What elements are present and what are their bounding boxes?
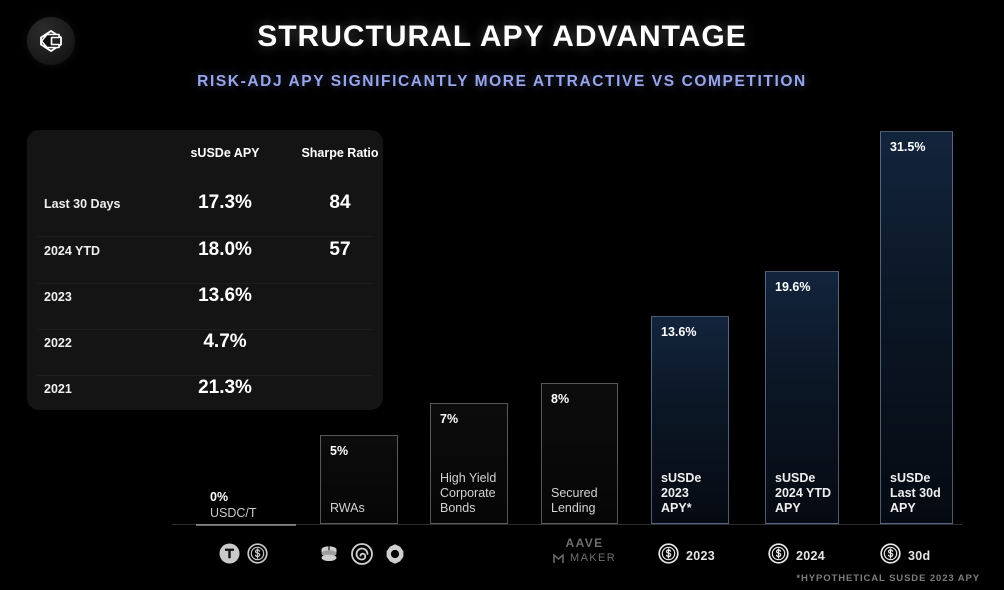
- bar-value-label: 31.5%: [890, 140, 925, 154]
- bar-susde-2023-apy: 13.6% sUSDe 2023 APY*: [651, 316, 729, 524]
- usde-coin-icon: [658, 543, 679, 569]
- bar-caption: sUSDe Last 30d APY: [890, 471, 941, 516]
- bar-value-label: 8%: [551, 392, 569, 406]
- bar-caption: sUSDe 2023 APY*: [661, 471, 701, 516]
- legend-aave-maker: AAVE MAKER: [553, 536, 616, 566]
- bar-value-label: 0%: [210, 489, 257, 505]
- legend-item-2023: 2023: [658, 543, 715, 569]
- legend-label: 2023: [686, 549, 715, 563]
- legend-label: 30d: [908, 549, 930, 563]
- stacked-coins-icon: [318, 544, 340, 569]
- bar-susde-2024-ytd-apy: 19.6% sUSDe 2024 YTD APY: [765, 271, 839, 524]
- bar-usdc-t: 0% USDC/T: [210, 489, 257, 521]
- bar-value-label: 13.6%: [661, 325, 696, 339]
- legend-rwa-logos: [318, 543, 406, 570]
- slide-root: STRUCTURAL APY ADVANTAGE RISK-ADJ APY SI…: [0, 0, 1004, 590]
- legend-item-2024: 2024: [768, 543, 825, 569]
- usdc-coin-icon: [247, 543, 268, 569]
- footnote: *HYPOTHETICAL SUSDE 2023 APY: [796, 573, 980, 584]
- bar-caption: sUSDe 2024 YTD APY: [775, 471, 831, 516]
- legend-label: 2024: [796, 549, 825, 563]
- aave-label: AAVE: [553, 536, 616, 551]
- bar-rwas: 5% RWAs: [320, 435, 398, 524]
- bar-high-yield-corporate-bonds: 7% High Yield Corporate Bonds: [430, 403, 508, 524]
- maker-m-icon: [553, 553, 566, 564]
- bar-caption: USDC/T: [210, 505, 257, 521]
- bar-caption: High Yield Corporate Bonds: [440, 471, 496, 516]
- chart-baseline-highlight: [196, 524, 296, 526]
- usde-coin-icon: [768, 543, 789, 569]
- legend-usdc-t-logos: [219, 543, 268, 569]
- gear-hex-icon: [384, 543, 406, 570]
- apy-comparison-bar-chart: 0% USDC/T 5% RWAs 7% High Yield Corporat…: [0, 0, 1004, 590]
- bar-value-label: 19.6%: [775, 280, 810, 294]
- maker-label: MAKER: [570, 551, 616, 566]
- bar-value-label: 5%: [330, 444, 348, 458]
- legend-item-30d: 30d: [880, 543, 930, 569]
- tether-coin-icon: [219, 543, 240, 569]
- bar-caption: Secured Lending: [551, 486, 598, 516]
- bar-secured-lending: 8% Secured Lending: [541, 383, 618, 524]
- usde-coin-icon: [880, 543, 901, 569]
- bar-susde-last-30d-apy: 31.5% sUSDe Last 30d APY: [880, 131, 953, 524]
- bar-caption: RWAs: [330, 501, 365, 516]
- bar-value-label: 7%: [440, 412, 458, 426]
- maker-row: MAKER: [553, 551, 616, 566]
- spiral-target-icon: [351, 543, 373, 570]
